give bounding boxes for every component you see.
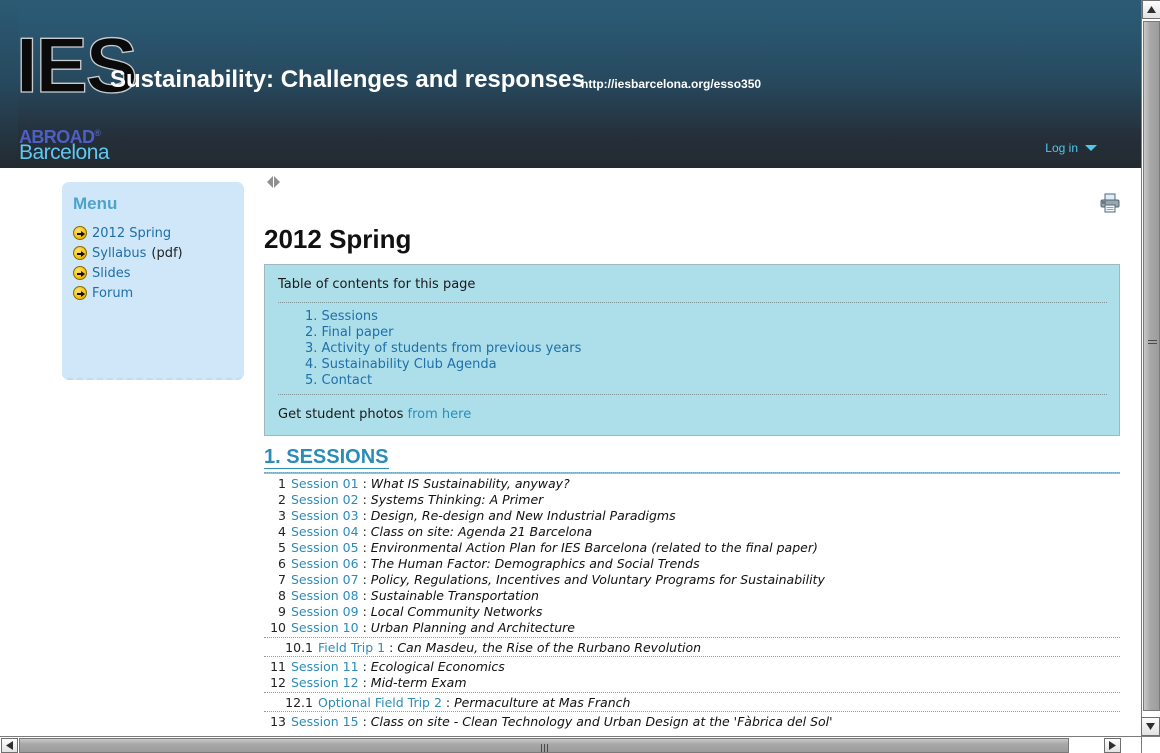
session-description: Mid-term Exam	[371, 675, 467, 691]
arrow-circle-icon	[73, 226, 87, 240]
arrow-circle-icon	[73, 246, 87, 260]
arrow-circle-icon	[73, 266, 87, 280]
scroll-up-button[interactable]	[1142, 0, 1160, 19]
row-separator: :	[359, 508, 371, 524]
row-number: 2	[264, 492, 291, 508]
sidebar-item-syllabus[interactable]: Syllabus (pdf)	[73, 244, 244, 262]
row-separator: :	[359, 476, 371, 492]
logo-registered-mark: ®	[94, 128, 100, 138]
browser-page: IES ABROAD® Barcelona Sustainability: Ch…	[0, 0, 1160, 753]
session-link[interactable]: Session 06	[291, 556, 359, 572]
arrow-circle-icon	[73, 286, 87, 300]
session-description: What IS Sustainability, anyway?	[371, 476, 570, 492]
table-row[interactable]: 6 Session 06 : The Human Factor: Demogra…	[264, 556, 1120, 572]
row-separator: :	[442, 693, 454, 713]
toc-item-activity-previous-years[interactable]: 3. Activity of students from previous ye…	[278, 341, 1107, 357]
table-row[interactable]: 12.1 Optional Field Trip 2 : Permacultur…	[264, 692, 1120, 712]
horizontal-scrollbar-thumb[interactable]	[19, 738, 1069, 753]
row-number: 6	[264, 556, 291, 572]
toc-heading: Table of contents for this page	[278, 277, 1107, 292]
table-row[interactable]: 7 Session 07 : Policy, Regulations, Ince…	[264, 572, 1120, 588]
row-separator: :	[359, 604, 371, 620]
table-row[interactable]: 10.1 Field Trip 1 : Can Masdeu, the Rise…	[264, 637, 1120, 657]
triangle-right-icon	[274, 176, 280, 188]
horizontal-scrollbar[interactable]	[0, 736, 1141, 753]
sidebar-item-forum[interactable]: Forum	[73, 284, 244, 302]
row-number: 8	[264, 588, 291, 604]
table-row[interactable]: 4 Session 04 : Class on site: Agenda 21 …	[264, 524, 1120, 540]
session-link[interactable]: Session 05	[291, 540, 359, 556]
session-description: Permaculture at Mas Franch	[454, 693, 630, 713]
table-row[interactable]: 10 Session 10 : Urban Planning and Archi…	[264, 620, 1120, 636]
toc-list: 1. Sessions 2. Final paper 3. Activity o…	[278, 302, 1107, 395]
row-number: 10.1	[284, 638, 318, 658]
sessions-heading-text: 1. SESSIONS	[264, 446, 389, 469]
sidebar-collapse-toggle[interactable]	[267, 176, 280, 188]
table-row[interactable]: 9 Session 09 : Local Community Networks	[264, 604, 1120, 620]
session-link[interactable]: Session 12	[291, 675, 359, 691]
scroll-down-button[interactable]	[1141, 717, 1160, 736]
table-row[interactable]: 1 Session 01 : What IS Sustainability, a…	[264, 476, 1120, 492]
sidebar-item-slides[interactable]: Slides	[73, 264, 244, 282]
row-separator: :	[359, 620, 371, 636]
sidebar-item-label: Forum	[92, 286, 133, 301]
row-separator: :	[359, 659, 371, 675]
scroll-right-button[interactable]	[1104, 738, 1121, 753]
toc-footer: Get student photos from here	[278, 407, 1107, 422]
field-trip-link[interactable]: Optional Field Trip 2	[318, 693, 442, 713]
row-separator: :	[359, 714, 371, 730]
vertical-scrollbar-thumb[interactable]	[1143, 21, 1160, 711]
row-number: 12.1	[284, 693, 318, 713]
page-body: Menu 2012 Spring Syllabus (pdf) Slides	[0, 168, 1141, 736]
login-menu[interactable]: Log in	[1045, 141, 1097, 155]
row-number: 5	[264, 540, 291, 556]
session-description: Class on site - Clean Technology and Urb…	[371, 714, 833, 730]
row-number: 13	[264, 714, 291, 730]
main-content: 2012 Spring Table of contents for this p…	[264, 168, 1141, 736]
session-description: Systems Thinking: A Primer	[371, 492, 544, 508]
toc-item-contact[interactable]: 5. Contact	[278, 373, 1107, 389]
session-link[interactable]: Session 10	[291, 620, 359, 636]
session-link[interactable]: Session 04	[291, 524, 359, 540]
session-description: Class on site: Agenda 21 Barcelona	[371, 524, 592, 540]
session-description: Ecological Economics	[371, 659, 505, 675]
row-number: 10	[264, 620, 291, 636]
toc-item-final-paper[interactable]: 2. Final paper	[278, 325, 1107, 341]
row-separator: :	[385, 638, 397, 658]
session-link[interactable]: Session 09	[291, 604, 359, 620]
sidebar-item-suffix: (pdf)	[151, 246, 182, 261]
table-row[interactable]: 8 Session 08 : Sustainable Transportatio…	[264, 588, 1120, 604]
table-row[interactable]: 5 Session 05 : Environmental Action Plan…	[264, 540, 1120, 556]
sidebar-item-label: Syllabus	[92, 246, 146, 261]
session-link[interactable]: Session 01	[291, 476, 359, 492]
row-separator: :	[359, 556, 371, 572]
student-photos-link[interactable]: from here	[408, 407, 472, 422]
sidebar-item-2012-spring[interactable]: 2012 Spring	[73, 224, 244, 242]
session-link[interactable]: Session 07	[291, 572, 359, 588]
chevron-down-icon	[1085, 145, 1097, 151]
session-link[interactable]: Session 11	[291, 659, 359, 675]
row-number: 3	[264, 508, 291, 524]
session-description: Sustainable Transportation	[371, 588, 539, 604]
session-link[interactable]: Session 03	[291, 508, 359, 524]
row-separator: :	[359, 524, 371, 540]
table-row[interactable]: 13 Session 15 : Class on site - Clean Te…	[264, 714, 1120, 730]
row-separator: :	[359, 492, 371, 508]
site-title: Sustainability: Challenges and responses	[110, 66, 585, 94]
session-description: Local Community Networks	[371, 604, 543, 620]
triangle-left-icon	[267, 176, 273, 188]
table-row[interactable]: 2 Session 02 : Systems Thinking: A Prime…	[264, 492, 1120, 508]
table-row[interactable]: 11 Session 11 : Ecological Economics	[264, 659, 1120, 675]
site-url: http://iesbarcelona.org/esso350	[581, 77, 761, 91]
page-title: 2012 Spring	[264, 224, 411, 255]
session-description: Urban Planning and Architecture	[371, 620, 575, 636]
table-of-contents: Table of contents for this page 1. Sessi…	[264, 264, 1120, 436]
sessions-list: 1 Session 01 : What IS Sustainability, a…	[264, 476, 1120, 730]
row-number: 12	[264, 675, 291, 691]
vertical-scrollbar[interactable]	[1141, 0, 1160, 736]
row-number: 11	[264, 659, 291, 675]
site-header: IES ABROAD® Barcelona Sustainability: Ch…	[0, 0, 1141, 168]
row-separator: :	[359, 572, 371, 588]
sidebar-item-label: 2012 Spring	[92, 226, 171, 241]
session-link[interactable]: Session 08	[291, 588, 359, 604]
row-separator: :	[359, 588, 371, 604]
session-description: Environmental Action Plan for IES Barcel…	[371, 540, 818, 556]
scrollbar-grip-icon	[1148, 340, 1157, 347]
page-viewport: IES ABROAD® Barcelona Sustainability: Ch…	[0, 0, 1141, 736]
row-separator: :	[359, 675, 371, 691]
toc-footer-text: Get student photos	[278, 407, 408, 422]
field-trip-link[interactable]: Field Trip 1	[318, 638, 385, 658]
toc-item-sustainability-club-agenda[interactable]: 4. Sustainability Club Agenda	[278, 357, 1107, 373]
table-row[interactable]: 12 Session 12 : Mid-term Exam	[264, 675, 1120, 691]
sidebar-item-label: Slides	[92, 266, 131, 281]
session-link[interactable]: Session 02	[291, 492, 359, 508]
sidebar-heading: Menu	[73, 194, 244, 214]
table-row[interactable]: 3 Session 03 : Design, Re-design and New…	[264, 508, 1120, 524]
row-number: 4	[264, 524, 291, 540]
logo-barcelona-text: Barcelona	[19, 142, 109, 163]
session-link[interactable]: Session 15	[291, 714, 359, 730]
row-number: 7	[264, 572, 291, 588]
row-number: 9	[264, 604, 291, 620]
scrollbar-corner	[1141, 736, 1160, 753]
ies-abroad-barcelona-logo[interactable]: IES ABROAD® Barcelona	[16, 26, 116, 161]
row-number: 1	[264, 476, 291, 492]
row-separator: :	[359, 540, 371, 556]
scrollbar-grip-icon	[541, 744, 548, 752]
sessions-heading: 1. SESSIONS	[264, 446, 1120, 474]
toc-item-sessions[interactable]: 1. Sessions	[278, 309, 1107, 325]
sidebar-menu-panel: Menu 2012 Spring Syllabus (pdf) Slides	[62, 182, 244, 380]
sessions-top-divider	[264, 472, 1120, 473]
session-description: Design, Re-design and New Industrial Par…	[371, 508, 676, 524]
session-description: Policy, Regulations, Incentives and Volu…	[371, 572, 825, 588]
print-icon[interactable]	[1099, 193, 1121, 213]
scroll-left-button[interactable]	[1, 738, 18, 753]
login-label: Log in	[1045, 141, 1078, 155]
session-description: Can Masdeu, the Rise of the Rurbano Revo…	[397, 638, 701, 658]
session-description: The Human Factor: Demographics and Socia…	[371, 556, 700, 572]
